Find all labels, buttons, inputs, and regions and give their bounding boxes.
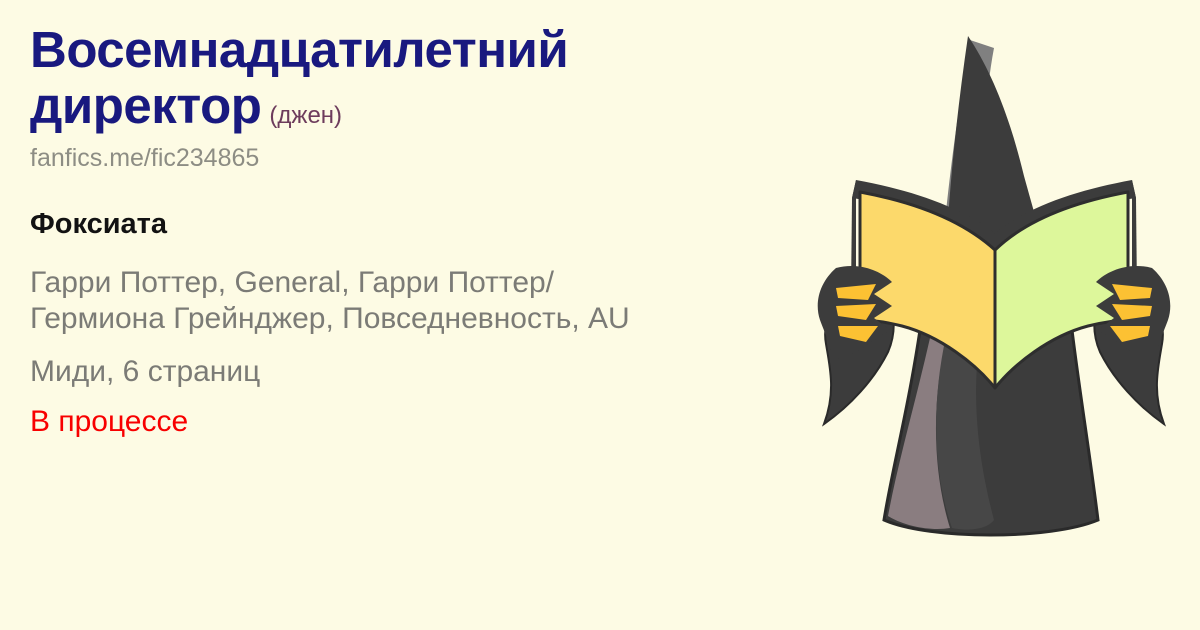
- title-block: Восемнадцатилетний директор(джен): [30, 22, 730, 133]
- fic-info-column: Восемнадцатилетний директор(джен) fanfic…: [30, 22, 730, 441]
- fic-tags: Гарри Поттер, General, Гарри Поттер/Герм…: [30, 265, 670, 338]
- witch-illustration-svg: [780, 0, 1200, 630]
- fic-rating-label: (джен): [269, 102, 342, 129]
- fic-meta-block: Гарри Поттер, General, Гарри Поттер/Герм…: [30, 265, 730, 441]
- fic-size: Миди, 6 страниц: [30, 354, 730, 391]
- fic-author-name[interactable]: Фоксиата: [30, 209, 730, 241]
- status-badge: В процессе: [30, 404, 730, 441]
- fic-url[interactable]: fanfics.me/fic234865: [30, 145, 730, 173]
- fanfic-social-card: Восемнадцатилетний директор(джен) fanfic…: [0, 0, 1200, 630]
- witch-reading-book-illustration: [780, 0, 1200, 630]
